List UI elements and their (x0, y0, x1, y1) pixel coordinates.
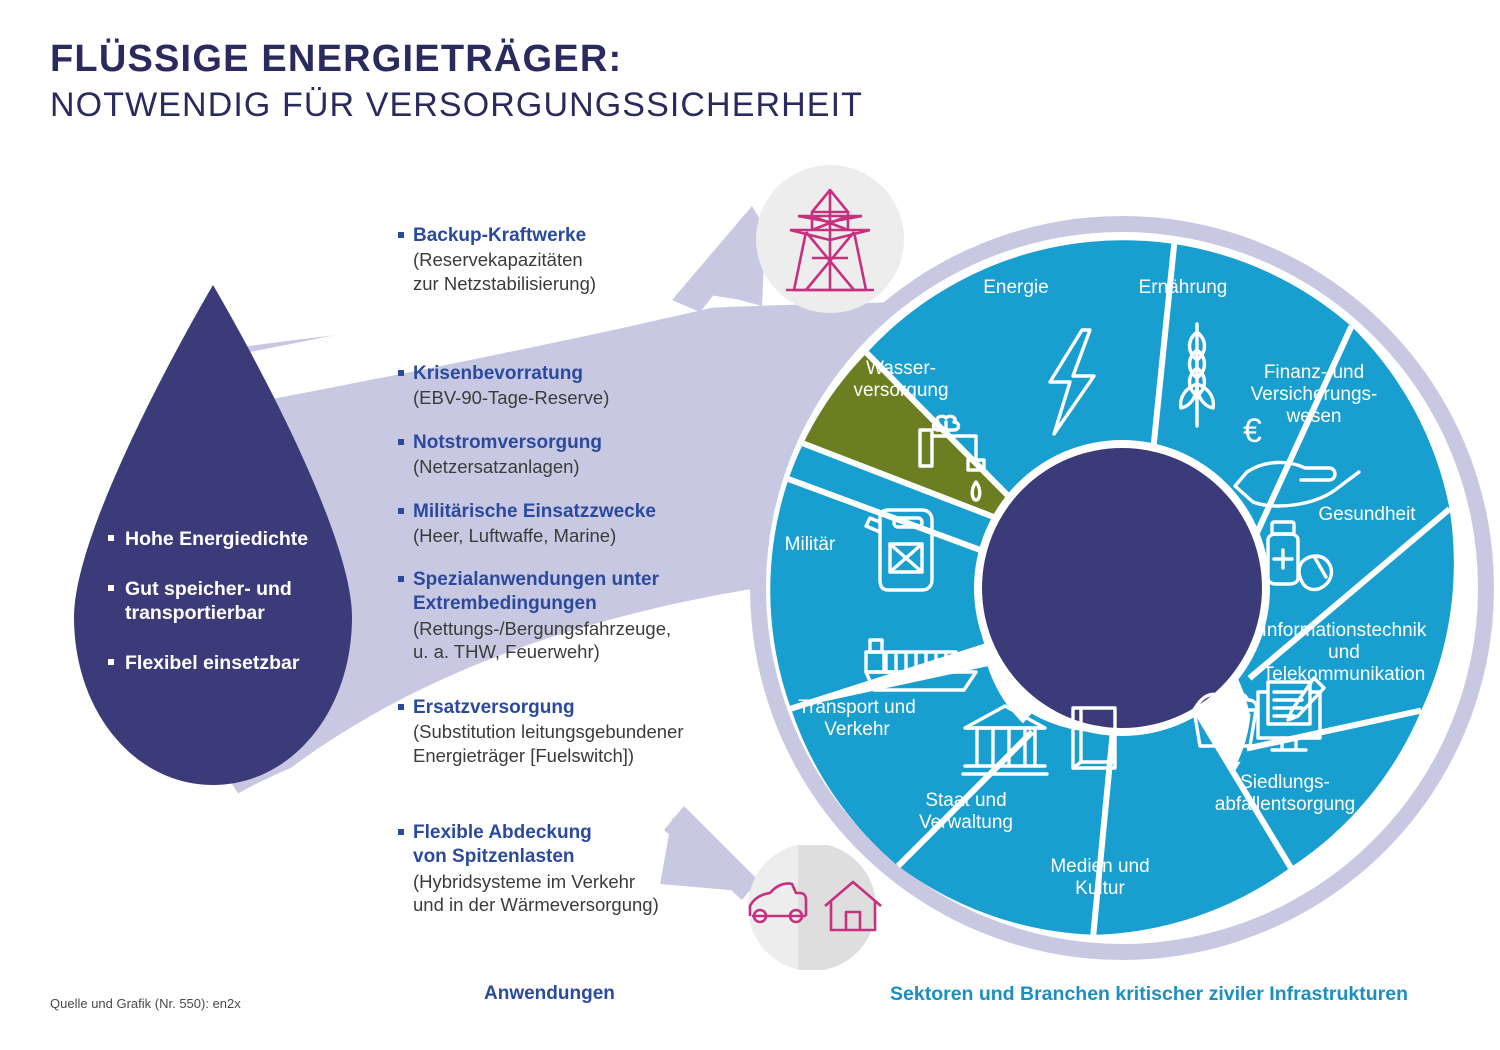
critical-infrastructure-wheel: € (750, 216, 1494, 960)
application-heading: Flexible Abdeckung von Spitzenlasten (413, 821, 763, 870)
bullet-marker (398, 829, 404, 835)
list-item: Gut speicher- und transportierbar (108, 577, 378, 626)
bullet-marker (398, 576, 404, 582)
bullet-marker (398, 508, 404, 514)
car-house-badge (748, 843, 881, 971)
list-item: Hohe Energiedichte (108, 527, 378, 552)
application-subtext: (EBV-90-Tage-Reserve) (413, 386, 743, 410)
application-subtext: (Rettungs-/Bergungsfahrzeuge, u. a. THW,… (413, 617, 763, 664)
application-heading: Notstromversorgung (413, 431, 743, 455)
page-title: FLÜSSIGE ENERGIETRÄGER: NOTWENDIG FÜR VE… (50, 38, 1050, 125)
application-subtext: (Hybridsysteme im Verkehr und in der Wär… (413, 870, 763, 917)
bullet-marker (398, 439, 404, 445)
title-line-1: FLÜSSIGE ENERGIETRÄGER: (50, 38, 1050, 81)
application-subtext: (Reservekapazitäten zur Netzstabilisieru… (413, 248, 743, 295)
bullet-marker (398, 232, 404, 238)
application-item-militaerische-einsatzzwecke: Militärische Einsatzzwecke (Heer, Luftwa… (398, 500, 763, 548)
bullet-marker (398, 370, 404, 376)
caption-anwendungen: Anwendungen (484, 983, 615, 1005)
application-heading: Spezialanwendungen unter Extrembedingung… (413, 568, 763, 617)
droplet-benefits-list: Hohe Energiedichte Gut speicher- und tra… (108, 527, 378, 675)
application-subtext: (Substitution leitungsgebundener Energie… (413, 720, 773, 767)
application-heading: Militärische Einsatzzwecke (413, 500, 763, 524)
bullet-marker (398, 704, 404, 710)
caption-sektoren: Sektoren und Branchen kritischer ziviler… (890, 983, 1408, 1006)
application-heading: Krisenbevorratung (413, 362, 743, 386)
source-note: Quelle und Grafik (Nr. 550): en2x (50, 996, 241, 1011)
title-line-2: NOTWENDIG FÜR VERSORGUNGSSICHERHEIT (50, 85, 1050, 126)
wheel-hub (982, 448, 1262, 728)
application-heading: Backup-Kraftwerke (413, 224, 743, 248)
power-pylon-badge (756, 165, 904, 313)
application-item-backup-kraftwerke: Backup-Kraftwerke (Reservekapazitäten zu… (398, 224, 743, 296)
application-item-ersatzversorgung: Ersatzversorgung (Substitution leitungsg… (398, 696, 773, 768)
list-item: Flexibel einsetzbar (108, 651, 378, 676)
application-item-notstromversorgung: Notstromversorgung (Netzersatzanlagen) (398, 431, 743, 479)
application-item-flexible-abdeckung: Flexible Abdeckung von Spitzenlasten (Hy… (398, 821, 763, 917)
application-item-spezialanwendungen: Spezialanwendungen unter Extrembedingung… (398, 568, 763, 664)
application-subtext: (Heer, Luftwaffe, Marine) (413, 524, 763, 548)
application-item-krisenbevorratung: Krisenbevorratung (EBV-90-Tage-Reserve) (398, 362, 743, 410)
application-subtext: (Netzersatzanlagen) (413, 455, 743, 479)
application-heading: Ersatzversorgung (413, 696, 773, 720)
svg-text:€: € (1243, 412, 1262, 450)
